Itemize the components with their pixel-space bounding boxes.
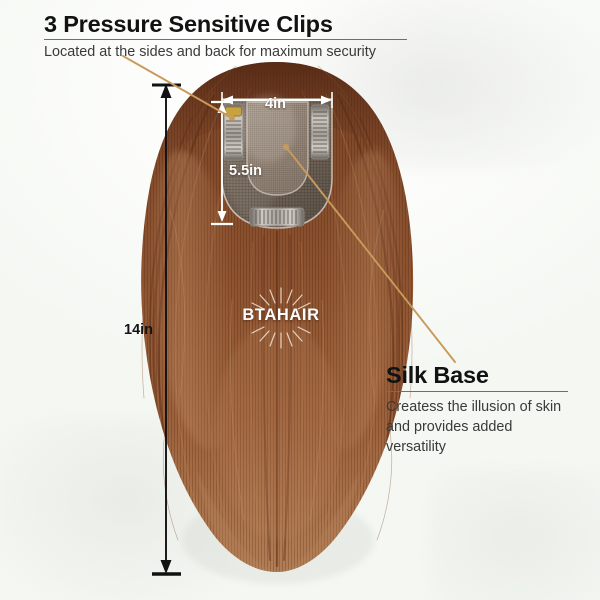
callout-pressure-clips: 3 Pressure Sensitive Clips Located at th… — [44, 11, 407, 62]
infographic-canvas: BTAHAIR 4in 5.5in 14in 3 Pressure Sensit… — [0, 0, 600, 600]
background-highlight-bottom-left — [0, 420, 230, 600]
callout-body-pressure-clips: Located at the sides and back for maximu… — [44, 43, 407, 62]
callout-body-silk-base: Createss the illusion of skin and provid… — [386, 398, 576, 458]
background-highlight-bottom-right — [430, 470, 600, 600]
callout-silk-base: Silk Base Createss the illusion of skin … — [386, 362, 576, 458]
callout-rule-pressure-clips — [44, 39, 407, 40]
callout-title-pressure-clips: 3 Pressure Sensitive Clips — [44, 11, 407, 37]
callout-title-silk-base: Silk Base — [386, 362, 576, 388]
callout-rule-silk-base — [386, 391, 568, 392]
